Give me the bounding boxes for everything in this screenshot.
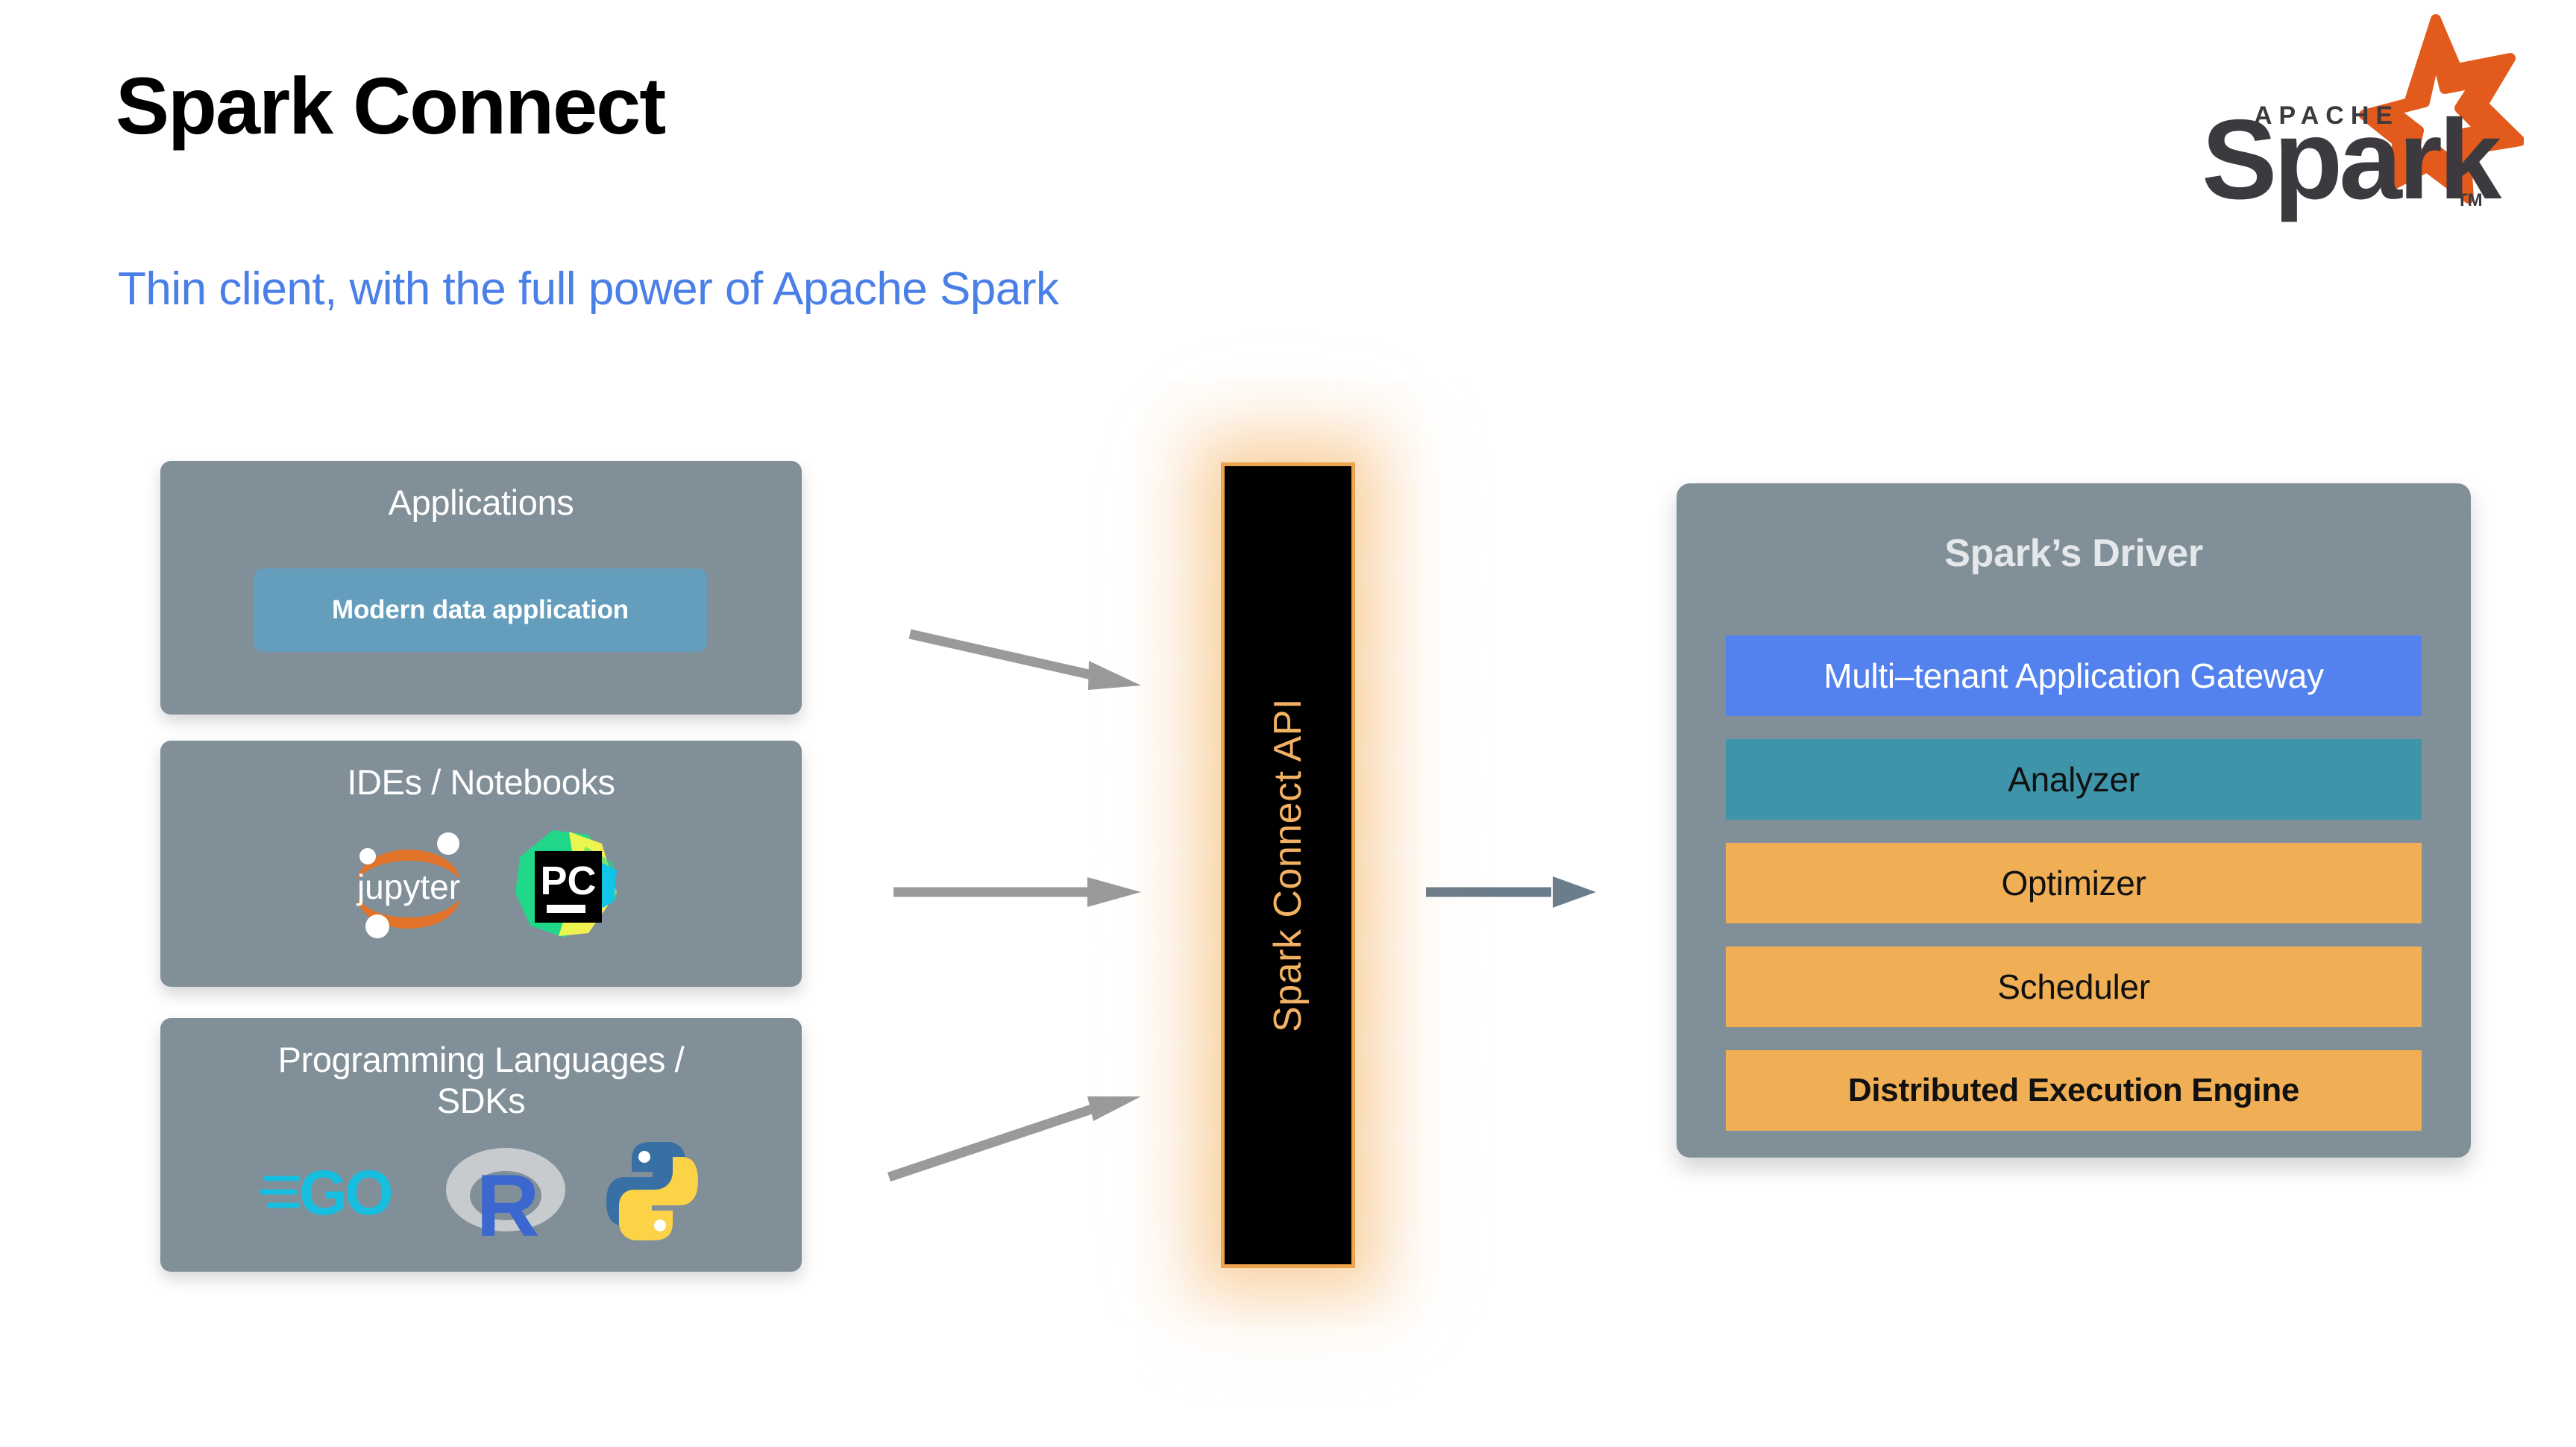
pycharm-logo: PC xyxy=(505,824,624,944)
client-box-title-line2: SDKs xyxy=(160,1080,802,1121)
page-title: Spark Connect xyxy=(116,63,665,148)
python-logo xyxy=(602,1139,703,1243)
spark-driver-panel[interactable]: Spark’s Driver Multi–tenant Application … xyxy=(1677,483,2471,1158)
go-logo-label: GO xyxy=(299,1158,391,1228)
spark-connect-api-label: Spark Connect API xyxy=(1266,698,1310,1032)
client-box-programming-languages[interactable]: Programming Languages / SDKs GO R xyxy=(160,1018,802,1272)
driver-row-gateway[interactable]: Multi–tenant Application Gateway xyxy=(1726,635,2422,716)
client-box-ides-notebooks[interactable]: IDEs / Notebooks jupyter PC xyxy=(160,741,802,987)
driver-row-optimizer[interactable]: Optimizer xyxy=(1726,843,2422,923)
ide-logo-row: jupyter PC xyxy=(160,824,802,944)
arrow-api-to-driver xyxy=(1426,876,1596,908)
modern-data-application-chip[interactable]: Modern data application xyxy=(254,568,707,652)
driver-row-distributed-execution-engine[interactable]: Distributed Execution Engine xyxy=(1726,1050,2422,1131)
driver-row-analyzer[interactable]: Analyzer xyxy=(1726,739,2422,820)
page-subtitle: Thin client, with the full power of Apac… xyxy=(118,263,1058,316)
arrow-ides-to-api xyxy=(893,877,1141,907)
language-logo-row: GO R xyxy=(160,1139,802,1243)
spark-connect-api-bar[interactable]: Spark Connect API xyxy=(1221,462,1355,1268)
client-box-title: Applications xyxy=(160,482,802,523)
jupyter-logo-label: jupyter xyxy=(356,867,460,906)
arrow-applications-to-api xyxy=(910,634,1141,690)
r-logo: R xyxy=(442,1139,569,1243)
client-box-title-line1: Programming Languages / xyxy=(160,1039,802,1080)
arrow-languages-to-api xyxy=(889,1096,1141,1177)
go-logo: GO xyxy=(260,1150,409,1232)
client-box-title: IDEs / Notebooks xyxy=(160,762,802,803)
apache-spark-logo: APACHE Spark TM xyxy=(2143,13,2524,230)
trademark-text: TM xyxy=(2457,190,2483,210)
spark-driver-title: Spark’s Driver xyxy=(1677,483,2471,576)
jupyter-logo: jupyter xyxy=(338,824,480,944)
r-logo-label: R xyxy=(476,1157,539,1243)
driver-row-scheduler[interactable]: Scheduler xyxy=(1726,947,2422,1027)
client-box-title: Programming Languages / SDKs xyxy=(160,1039,802,1122)
driver-stage-stack: Multi–tenant Application Gateway Analyze… xyxy=(1726,635,2422,1131)
pycharm-logo-label: PC xyxy=(540,859,596,903)
client-box-applications[interactable]: Applications Modern data application xyxy=(160,461,802,715)
